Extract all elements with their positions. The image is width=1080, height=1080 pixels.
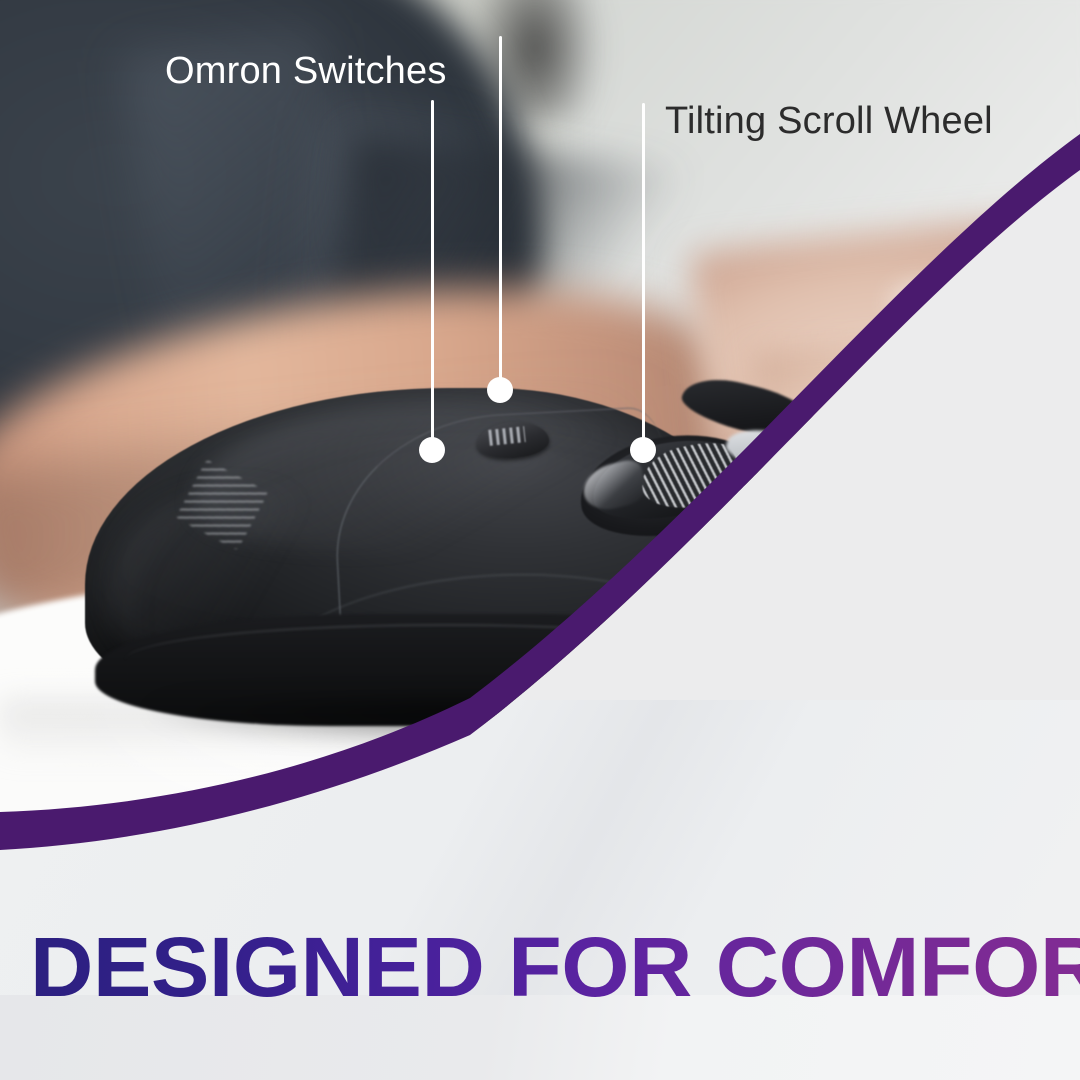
callout-dot-scroll-wheel	[630, 437, 656, 463]
callout-leader-line-scroll-wheel	[642, 103, 645, 450]
desk-cable	[800, 557, 1080, 624]
keyboard	[781, 497, 1080, 693]
callout-dot-omron	[419, 437, 445, 463]
mouse-cable-strain-relief	[753, 567, 807, 617]
background-bokeh-highlight	[880, 275, 970, 330]
callout-label-tilting-scroll-wheel: Tilting Scroll Wheel	[665, 100, 993, 143]
callout-dot-dpi	[487, 377, 513, 403]
page-headline: DESIGNED FOR COMFORT	[30, 925, 1080, 1009]
person-hand-near	[752, 326, 1080, 585]
desk-cable-secondary	[770, 582, 890, 625]
hand-knuckle-shadow	[980, 300, 1080, 410]
mouse-side-panel	[730, 446, 896, 532]
callout-leader-line-dpi	[499, 36, 502, 390]
callout-label-omron-switches: Omron Switches	[165, 50, 447, 93]
product-feature-poster: Omron Switches Tilting Scroll Wheel DESI…	[0, 0, 1080, 1080]
callout-leader-line-omron	[431, 100, 434, 450]
keyboard-keys-shadow	[827, 566, 1080, 664]
mouse-cable	[774, 554, 925, 620]
